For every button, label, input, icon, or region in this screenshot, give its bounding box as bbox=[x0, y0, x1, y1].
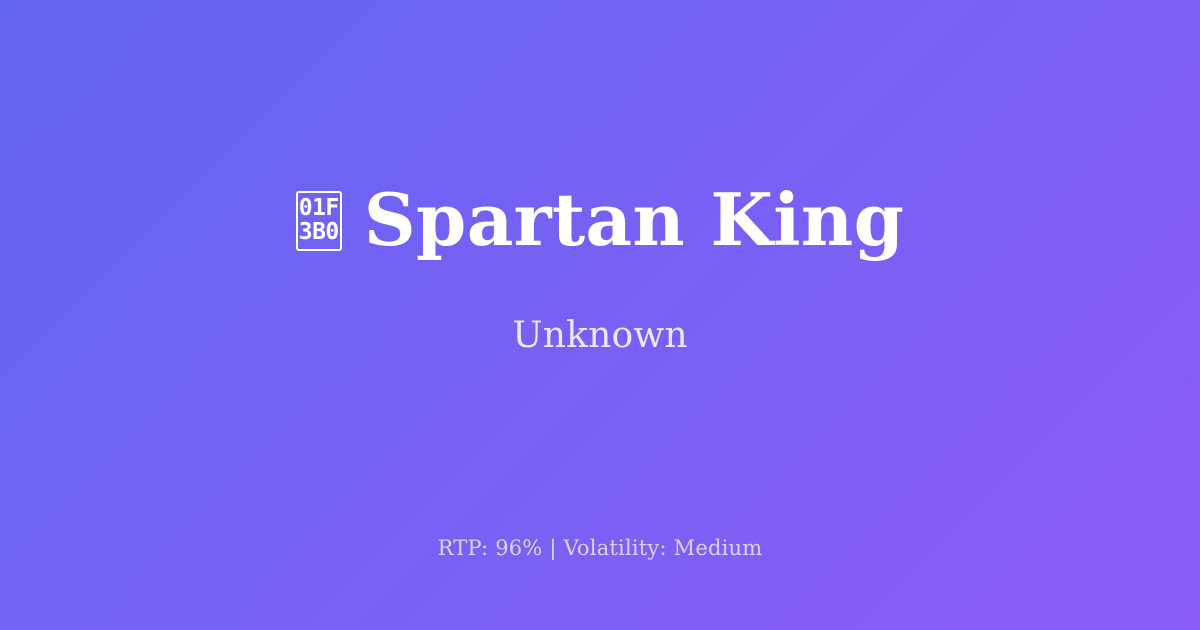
tofu-hex-bottom: 3B0 bbox=[299, 221, 339, 244]
tofu-hex-top: 01F bbox=[299, 197, 339, 220]
title-row: 01F 3B0 Spartan King bbox=[296, 182, 904, 258]
game-provider-subtitle: Unknown bbox=[512, 257, 688, 356]
slot-machine-icon: 01F 3B0 bbox=[296, 191, 342, 251]
meta-footer: RTP: 96% | Volatility: Medium bbox=[0, 536, 1200, 560]
og-share-card: 01F 3B0 Spartan King Unknown RTP: 96% | … bbox=[0, 0, 1200, 630]
page-title: Spartan King bbox=[364, 182, 904, 258]
game-stats-text: RTP: 96% | Volatility: Medium bbox=[438, 536, 763, 560]
